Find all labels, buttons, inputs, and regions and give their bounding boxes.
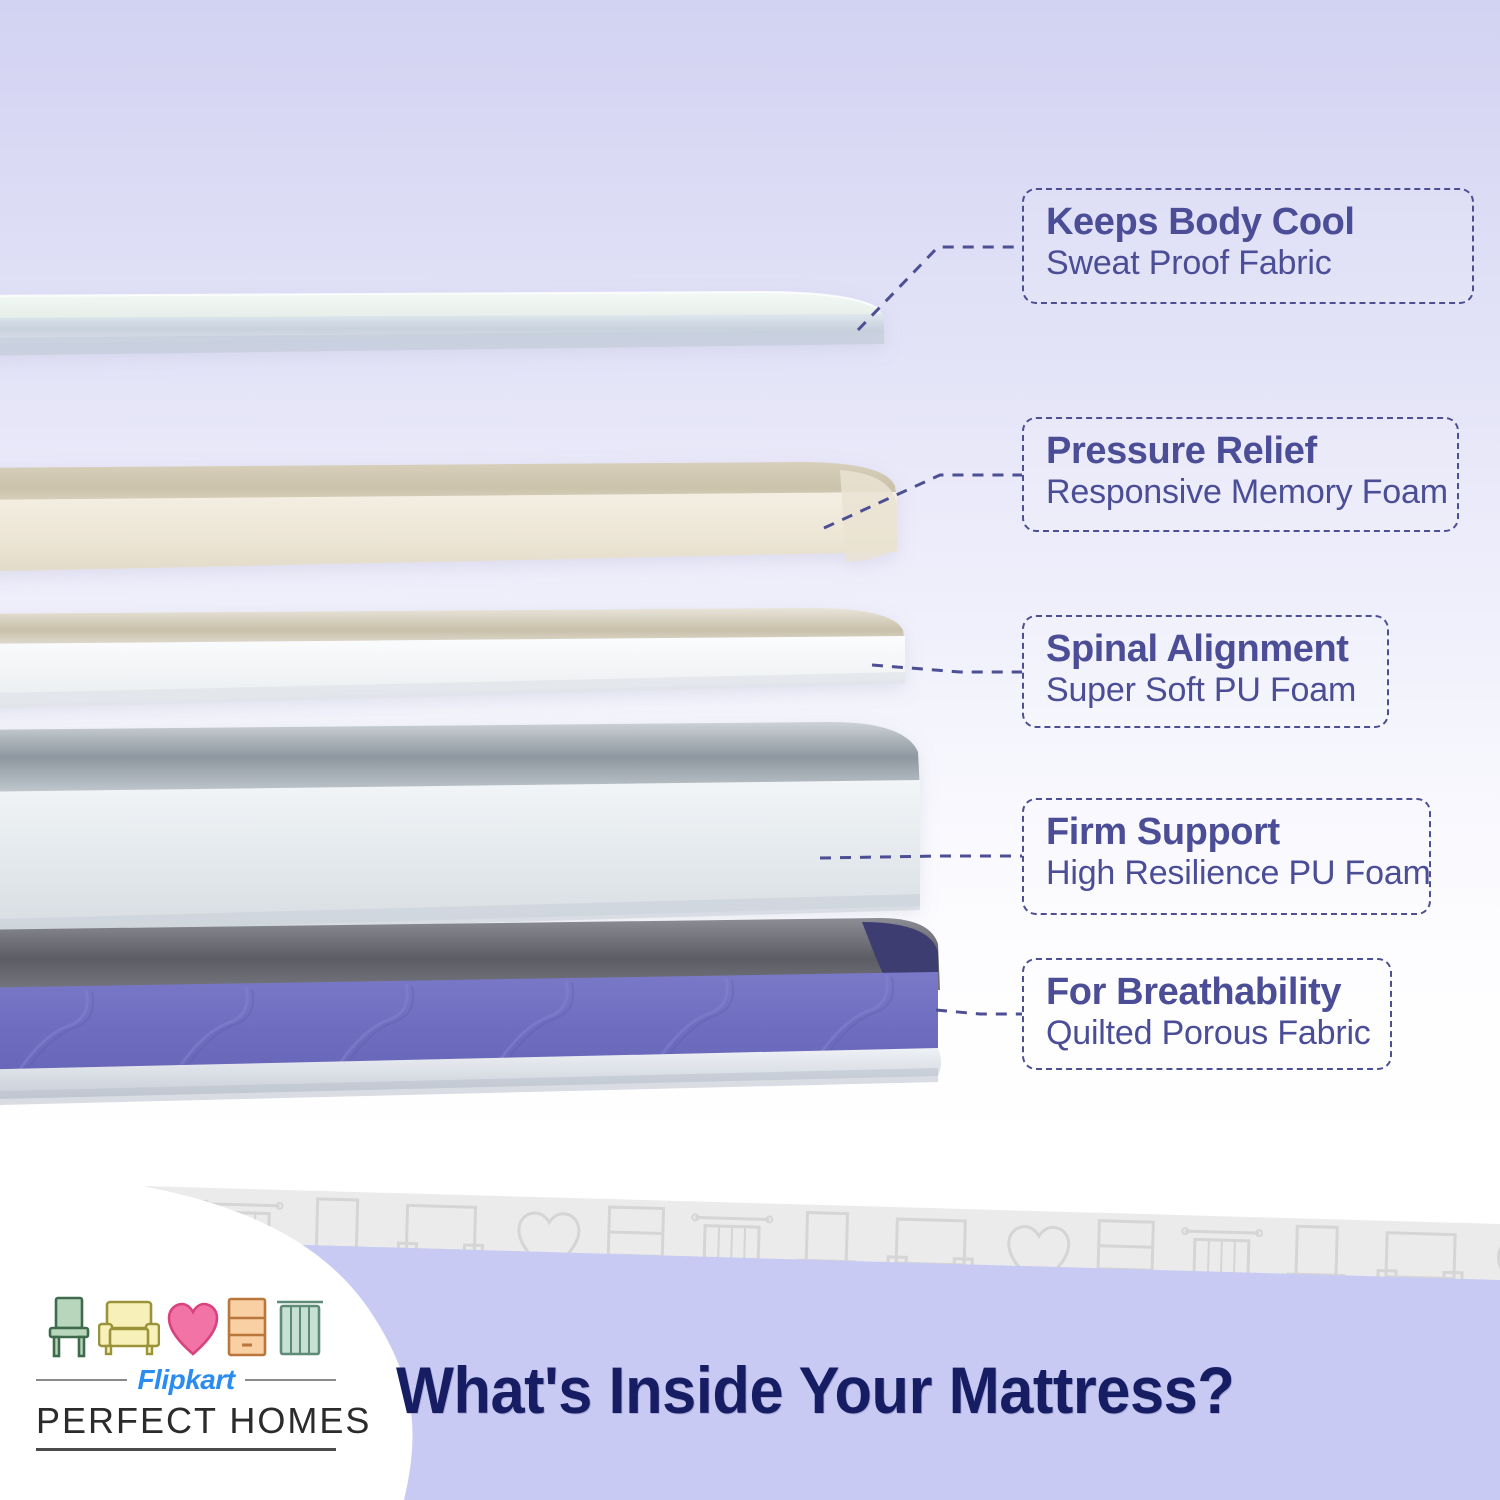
- connector-for-breathability: [936, 1010, 1022, 1014]
- sofa-icon: [98, 1296, 160, 1358]
- callout-pressure-relief[interactable]: Pressure Relief Responsive Memory Foam: [1022, 417, 1459, 532]
- callout-title: Spinal Alignment: [1046, 629, 1367, 669]
- callout-title: Pressure Relief: [1046, 431, 1437, 471]
- logo-rule-left: [36, 1379, 127, 1381]
- connector-firm-support: [820, 856, 1022, 858]
- callout-title: For Breathability: [1046, 972, 1370, 1012]
- callout-spinal-alignment[interactable]: Spinal Alignment Super Soft PU Foam: [1022, 615, 1389, 728]
- callout-subtitle: Super Soft PU Foam: [1046, 671, 1367, 710]
- brand-logo[interactable]: Flipkart PERFECT HOMES: [36, 1288, 336, 1451]
- page-title: What's Inside Your Mattress?: [396, 1352, 1234, 1428]
- mattress-layer-hr-pu-foam: [0, 722, 920, 938]
- callout-subtitle: Sweat Proof Fabric: [1046, 244, 1452, 283]
- brand-name: PERFECT HOMES: [36, 1400, 336, 1442]
- callout-title: Keeps Body Cool: [1046, 202, 1452, 242]
- mattress-layer-super-soft-pu: [0, 608, 905, 710]
- logo-underline: [36, 1448, 336, 1451]
- callout-keeps-body-cool[interactable]: Keeps Body Cool Sweat Proof Fabric: [1022, 188, 1474, 304]
- flipkart-wordmark: Flipkart: [137, 1364, 234, 1396]
- callout-for-breathability[interactable]: For Breathability Quilted Porous Fabric: [1022, 958, 1392, 1070]
- chair-icon: [47, 1296, 91, 1358]
- logo-rule-right: [245, 1379, 336, 1381]
- dresser-icon: [226, 1296, 268, 1358]
- callout-subtitle: High Resilience PU Foam: [1046, 854, 1409, 893]
- brand-icon-row: [36, 1288, 336, 1358]
- callout-title: Firm Support: [1046, 812, 1409, 852]
- curtains-icon: [275, 1296, 325, 1358]
- callout-subtitle: Responsive Memory Foam: [1046, 473, 1437, 512]
- heart-icon: [167, 1302, 219, 1358]
- brand-flipkart-row: Flipkart: [36, 1364, 336, 1396]
- infographic-canvas: Keeps Body Cool Sweat Proof Fabric Press…: [0, 0, 1500, 1500]
- mattress-layer-sweat-proof-fabric: [0, 292, 884, 356]
- mattress-layer-quilted-base: [0, 918, 941, 1106]
- callout-subtitle: Quilted Porous Fabric: [1046, 1014, 1370, 1053]
- mattress-layer-memory-foam: [0, 462, 897, 572]
- callout-firm-support[interactable]: Firm Support High Resilience PU Foam: [1022, 798, 1431, 915]
